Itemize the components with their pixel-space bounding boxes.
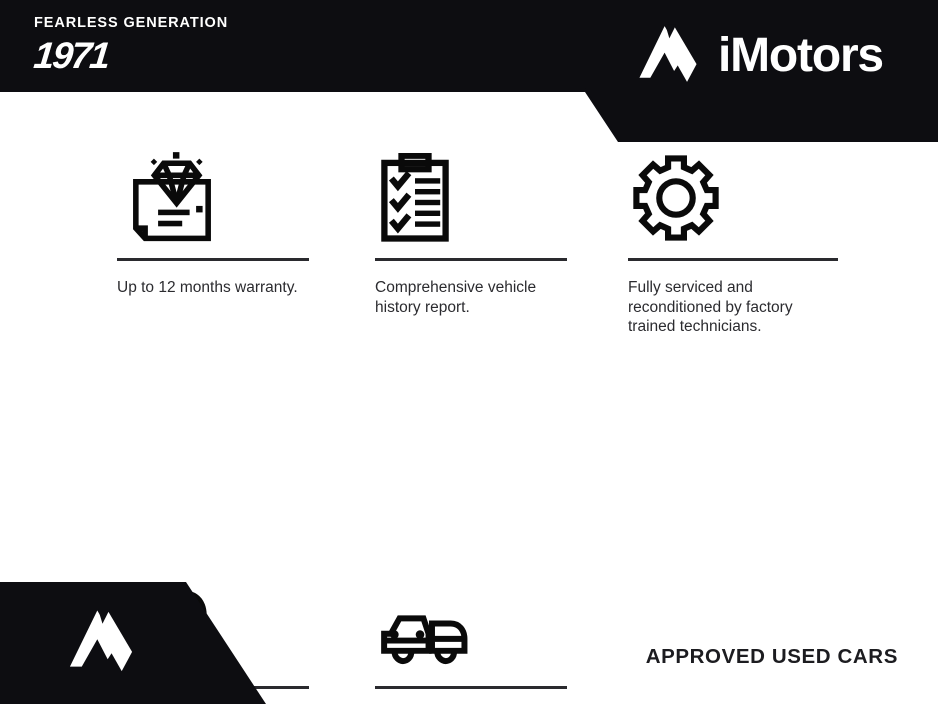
features-grid: Up to 12 months warranty.	[0, 150, 938, 558]
car-transporter-truck-icon	[375, 566, 580, 674]
feature-label: Up to 12 months warranty.	[117, 278, 317, 298]
clipboard-checklist-icon	[375, 150, 580, 246]
warranty-certificate-diamond-icon	[117, 150, 322, 246]
imotors-chevron-icon	[64, 600, 138, 686]
feature-divider	[375, 686, 567, 689]
feature-row-1: Up to 12 months warranty.	[0, 150, 938, 358]
feature-delivery: Nationwide delivery.	[375, 566, 580, 704]
feature-history-report: Comprehensive vehicle history report.	[375, 150, 580, 317]
brand-lockup-header: iMotors	[634, 22, 883, 90]
feature-warranty: Up to 12 months warranty.	[117, 150, 322, 298]
feature-label: Comprehensive vehicle history report.	[375, 278, 575, 317]
feature-divider	[628, 258, 838, 261]
feature-label: Fully serviced and reconditioned by fact…	[628, 278, 833, 337]
feature-divider	[117, 258, 309, 261]
imotors-chevron-icon	[634, 22, 702, 90]
campaign-lockup: FEARLESS GENERATION 1971	[34, 16, 228, 74]
footer-tagline: APPROVED USED CARS	[646, 645, 898, 669]
header-angled-wedge-lower	[585, 88, 938, 142]
gear-cog-icon	[628, 150, 840, 246]
feature-serviced: Fully serviced and reconditioned by fact…	[628, 150, 840, 337]
campaign-title: FEARLESS GENERATION	[34, 16, 228, 31]
campaign-year-logo: 1971	[32, 37, 228, 74]
promo-page: FEARLESS GENERATION 1971 iMotors	[0, 0, 938, 704]
feature-divider	[375, 258, 567, 261]
brand-name: iMotors	[718, 32, 883, 80]
